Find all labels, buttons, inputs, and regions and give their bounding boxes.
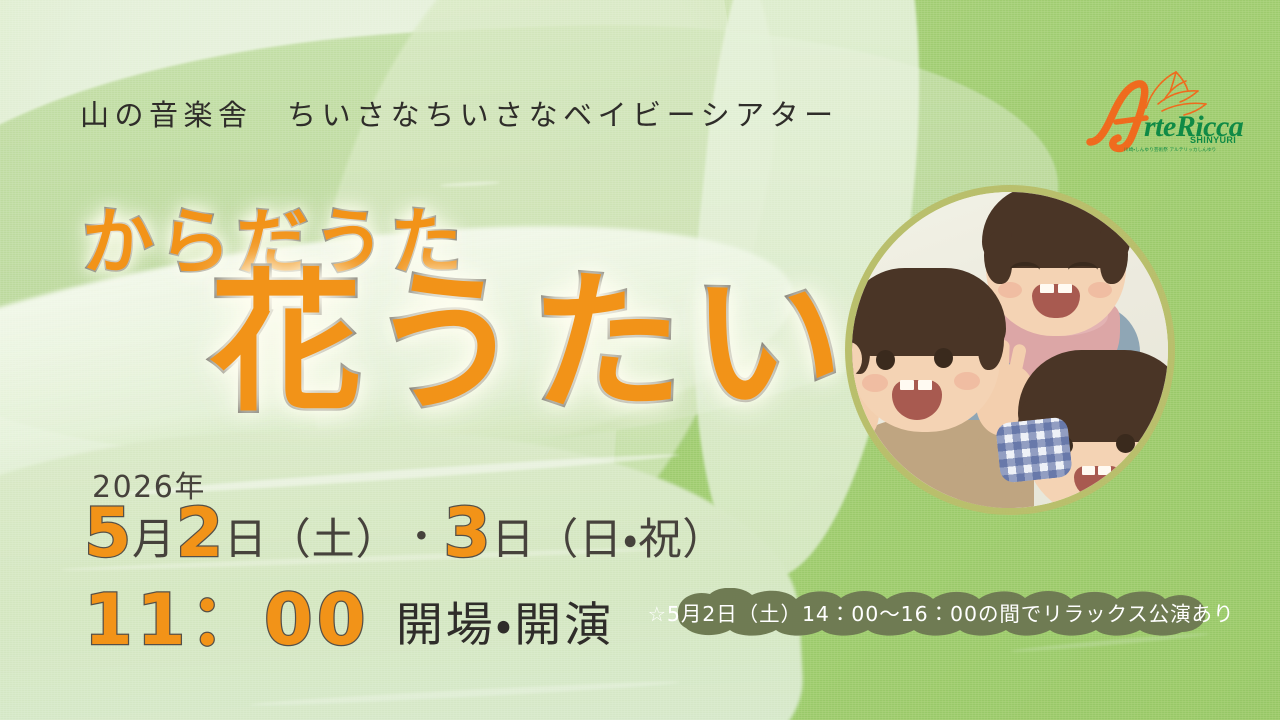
date-month-number: 5 <box>84 500 132 568</box>
logo-artwork: rteRicca SHINYURI 川崎・しんゆり芸術祭 アルテリッカしんゆり <box>1072 64 1257 154</box>
main-title-hanautai: 花うたい <box>210 268 851 420</box>
logo-japanese-line: 川崎・しんゆり芸術祭 アルテリッカしんゆり <box>1124 146 1216 153</box>
date-month-unit: 月 <box>132 519 176 562</box>
gingham-fabric <box>995 416 1073 483</box>
date-day1-number: 2 <box>176 500 224 568</box>
event-time-row: 11：00 開場・開演 <box>84 585 614 655</box>
poster-canvas: 山の音楽舎 ちいさなちいさなベイビーシアター <box>0 0 1280 720</box>
baby-photo-circle <box>845 185 1175 515</box>
arte-ricca-logo[interactable]: rteRicca SHINYURI 川崎・しんゆり芸術祭 アルテリッカしんゆり <box>1072 64 1257 154</box>
date-day1-unit: 日（土） <box>224 519 399 562</box>
date-day2-unit: 日（日・祝） <box>491 519 726 562</box>
relax-performance-banner: ☆5月2日（土）14：00〜16：00の間でリラックス公演あり <box>648 588 1234 636</box>
event-time-clock: 11：00 <box>84 585 370 655</box>
event-date-row: 5 月 2 日（土） ・ 3 日（日・祝） <box>84 500 726 568</box>
date-separator: ・ <box>399 517 443 557</box>
banner-text: ☆5月2日（土）14：00〜16：00の間でリラックス公演あり <box>648 588 1234 636</box>
organizer-line: 山の音楽舎 ちいさなちいさなベイビーシアター <box>80 92 839 134</box>
event-time-label: 開場・開演 <box>396 602 614 649</box>
date-day2-number: 3 <box>443 500 491 568</box>
baby-photo <box>852 192 1168 508</box>
logo-subtitle: SHINYURI <box>1190 135 1236 145</box>
